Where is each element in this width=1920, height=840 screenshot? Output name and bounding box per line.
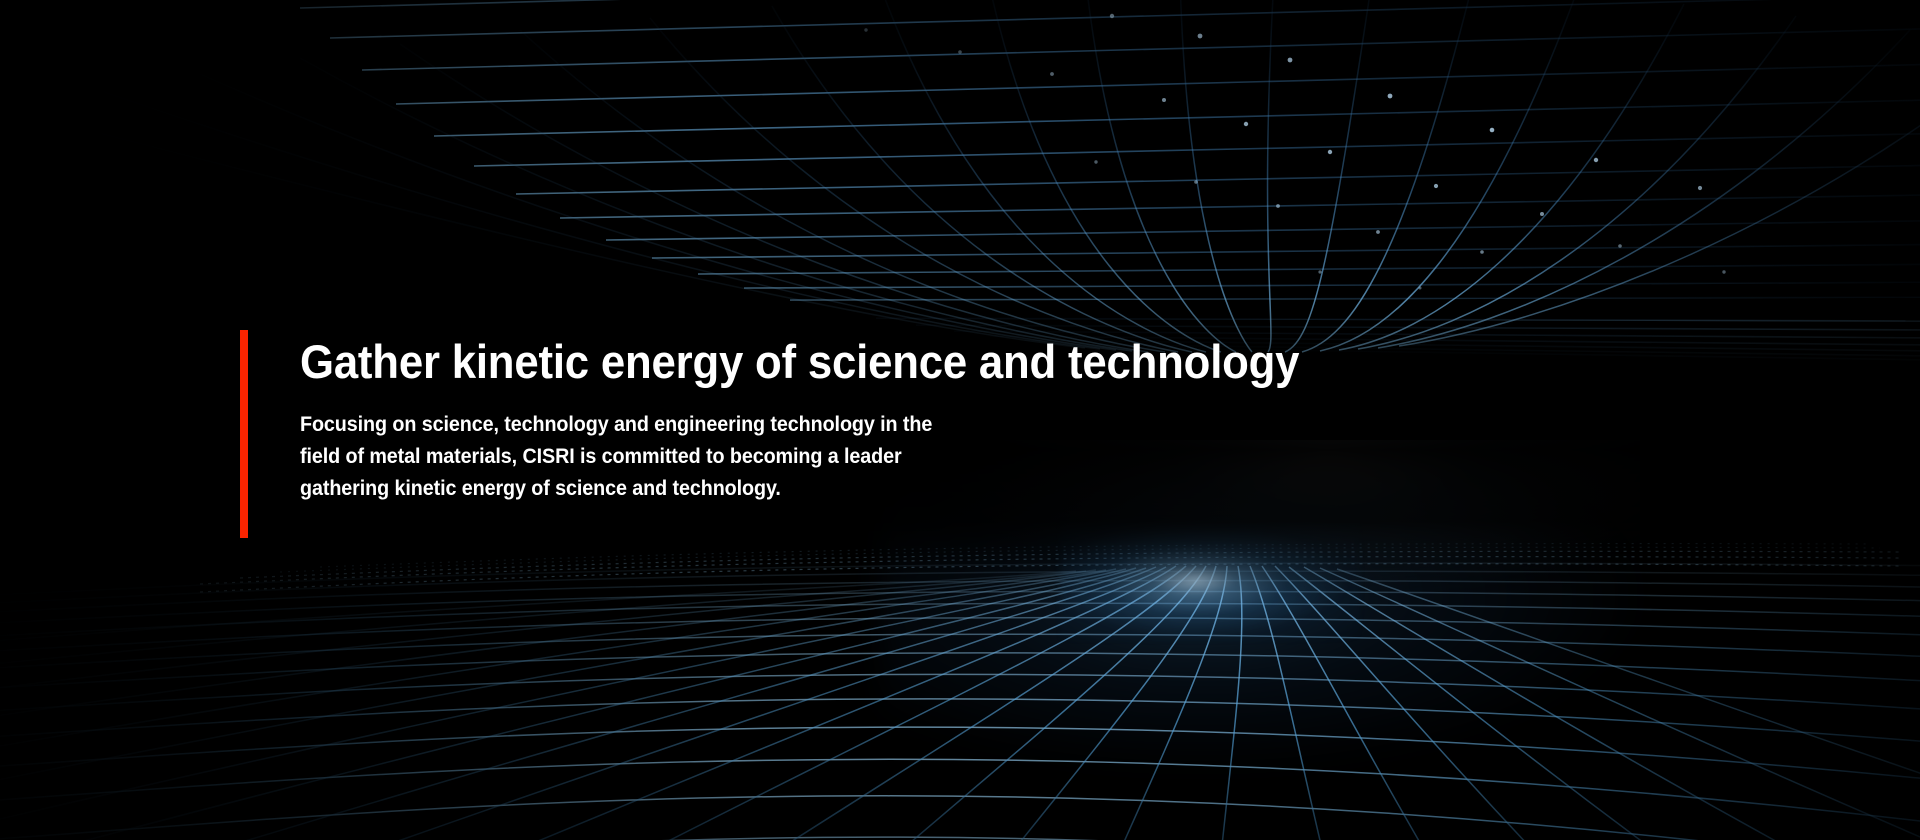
hero-description: Focusing on science, technology and engi… xyxy=(300,389,1310,505)
hero-headline: Gather kinetic energy of science and tec… xyxy=(300,336,1299,389)
hero-banner: Gather kinetic energy of science and tec… xyxy=(0,0,1920,840)
hero-description-line-1: Focusing on science, technology and engi… xyxy=(300,409,1310,441)
red-accent-bar xyxy=(240,330,248,538)
hero-description-line-3: gathering kinetic energy of science and … xyxy=(300,473,1310,505)
ceiling-grid xyxy=(10,0,1920,360)
floor-glow-core xyxy=(1060,520,1360,640)
hero-description-line-2: field of metal materials, CISRI is commi… xyxy=(300,441,1310,473)
vignette-bottom xyxy=(0,730,1920,840)
floor-grid xyxy=(0,544,1920,840)
vignette-top xyxy=(0,0,1920,120)
hero-copy: Gather kinetic energy of science and tec… xyxy=(248,330,1375,538)
hero-text-block: Gather kinetic energy of science and tec… xyxy=(240,330,1540,538)
